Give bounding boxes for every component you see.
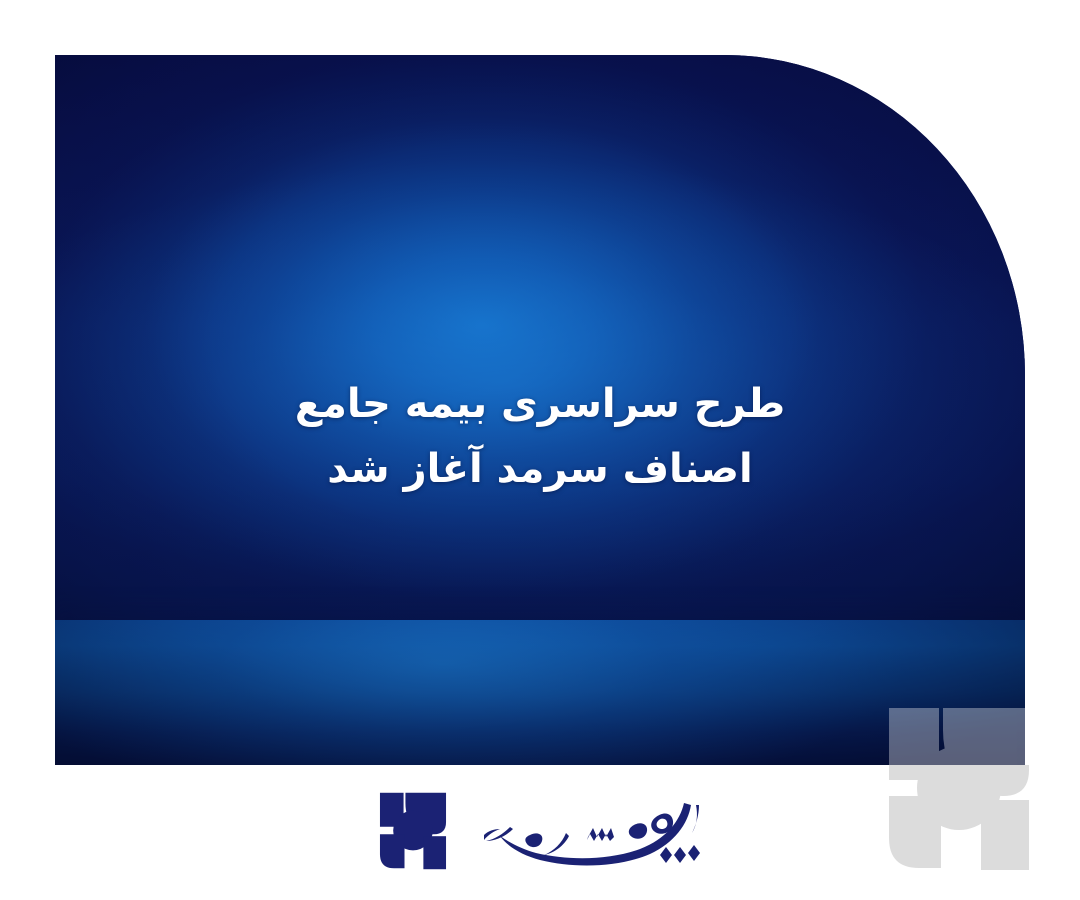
headline-line-2: اصناف سرمد آغاز شد	[0, 437, 1080, 502]
sarmad-pinwheel-mark-icon	[372, 789, 454, 873]
poster-canvas: طرح سراسری بیمه جامع اصناف سرمد آغاز شد	[0, 0, 1080, 900]
brand-logo-lockup: بیمه سرمد	[0, 783, 1080, 879]
headline-text: طرح سراسری بیمه جامع اصناف سرمد آغاز شد	[0, 372, 1080, 502]
brand-wordmark-bimeh-sarmad: بیمه سرمد	[470, 791, 708, 871]
headline-line-1: طرح سراسری بیمه جامع	[0, 372, 1080, 437]
